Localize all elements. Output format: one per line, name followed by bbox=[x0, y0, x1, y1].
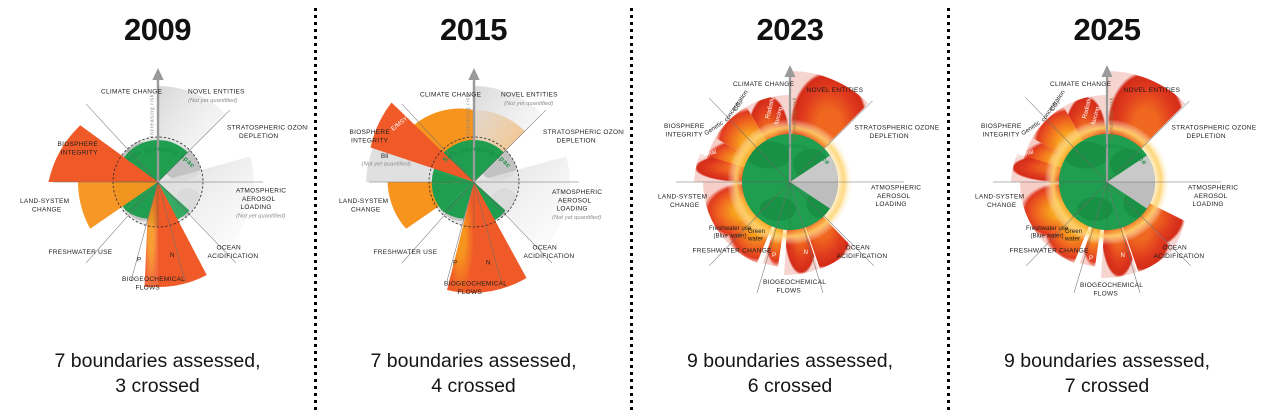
label-ocean-acidification-l1: OCEAN bbox=[1163, 244, 1188, 251]
label-aerosol-l3: LOADING bbox=[240, 204, 271, 211]
label-land-system-l1: LAND-SYSTEM bbox=[975, 193, 1024, 200]
sublabel-nitrogen: N bbox=[1121, 252, 1125, 259]
label-climate-change: CLIMATE CHANGE bbox=[101, 88, 163, 95]
caption-line-1: 9 boundaries assessed, bbox=[949, 349, 1261, 375]
panel-title: 2025 bbox=[1074, 14, 1141, 45]
sublabel-bii: BII bbox=[381, 153, 389, 160]
label-biogeochemical-l2: FLOWS bbox=[777, 287, 802, 294]
sublabel-greenwater-l2: water bbox=[1064, 235, 1080, 242]
planetary-boundaries-svg: Increasing risk Safe operating space CLI… bbox=[8, 53, 308, 308]
label-climate-change: CLIMATE CHANGE bbox=[733, 81, 795, 88]
panel-2025: 2025 bbox=[949, 0, 1261, 418]
sublabel-greenwater-l1: Green bbox=[748, 228, 766, 235]
aerosol-note: (Not yet quantified) bbox=[236, 213, 285, 219]
label-ozone-depletion-l1: STRATOSPHERIC OZONE bbox=[227, 124, 308, 131]
label-biosphere-l2: INTEGRITY bbox=[351, 137, 389, 144]
sublabel-greenwater-l1: Green bbox=[1065, 228, 1083, 235]
label-ocean-acidification-l1: OCEAN bbox=[216, 244, 241, 251]
panel-caption: 9 boundaries assessed, 6 crossed bbox=[632, 349, 948, 400]
novel-entities-note: (Not yet quantified) bbox=[188, 97, 237, 103]
label-novel-entities: NOVEL ENTITIES bbox=[501, 91, 558, 98]
panel-caption: 7 boundaries assessed, 4 crossed bbox=[316, 349, 631, 400]
sublabel-phosphorus: P bbox=[772, 252, 776, 259]
label-ozone-depletion-l2: DEPLETION bbox=[556, 137, 595, 144]
label-aerosol-l3: LOADING bbox=[1193, 201, 1224, 208]
label-ocean-acidification-l2: ACIDIFICATION bbox=[1154, 252, 1205, 259]
caption-line-2: 6 crossed bbox=[632, 374, 948, 400]
label-land-system-l1: LAND-SYSTEM bbox=[339, 198, 388, 205]
label-aerosol-l2: AEROSOL bbox=[242, 195, 275, 202]
panel-2023: 2023 bbox=[632, 0, 948, 418]
label-land-system-l2: CHANGE bbox=[670, 201, 700, 208]
risk-arrow-label: Increasing risk bbox=[1109, 97, 1115, 140]
panel-caption: 7 boundaries assessed, 3 crossed bbox=[0, 349, 315, 400]
sublabel-freshwater-l1: Freshwater use bbox=[709, 225, 752, 232]
novel-entities-note: (Not yet quantified) bbox=[504, 100, 553, 106]
sublabel-nitrogen: N bbox=[170, 252, 174, 259]
label-biosphere-l2: INTEGRITY bbox=[60, 149, 98, 156]
label-ocean-acidification-l1: OCEAN bbox=[532, 244, 557, 251]
sublabel-freshwater-l1: Freshwater use bbox=[1026, 225, 1069, 232]
label-biogeochemical-l1: BIOGEOCHEMICAL bbox=[763, 279, 826, 286]
panel-2009: 2009 bbox=[0, 0, 315, 418]
label-biosphere-l2: INTEGRITY bbox=[666, 131, 704, 138]
label-novel-entities: NOVEL ENTITIES bbox=[807, 87, 864, 94]
label-aerosol-l2: AEROSOL bbox=[558, 197, 591, 204]
label-biosphere-l1: BIOSPHERE bbox=[981, 123, 1022, 130]
label-biosphere-l1: BIOSPHERE bbox=[57, 141, 98, 148]
caption-line-2: 4 crossed bbox=[316, 374, 631, 400]
label-freshwater-change: FRESHWATER CHANGE bbox=[693, 247, 773, 254]
label-freshwater-change: FRESHWATER CHANGE bbox=[1010, 247, 1090, 254]
radial-chart-2015: Increasing risk Safe operating space CLI… bbox=[316, 51, 631, 309]
radial-chart-2023: Increasing risk Safe operating space CLI… bbox=[633, 51, 948, 309]
label-biogeochemical-l1: BIOGEOCHEMICAL bbox=[1080, 282, 1143, 289]
figure-board: 2009 bbox=[0, 0, 1261, 418]
label-ocean-acidification-l2: ACIDIFICATION bbox=[207, 252, 258, 259]
label-aerosol-l1: ATMOSPHERIC bbox=[1188, 184, 1238, 191]
label-ozone-depletion-l2: DEPLETION bbox=[1187, 132, 1226, 139]
label-aerosol-l3: LOADING bbox=[876, 201, 907, 208]
risk-arrow-label: Increasing risk bbox=[149, 94, 155, 137]
label-ocean-acidification-l2: ACIDIFICATION bbox=[523, 252, 574, 259]
label-land-system-l2: CHANGE bbox=[32, 206, 62, 213]
label-aerosol-l2: AEROSOL bbox=[877, 192, 910, 199]
sublabel-phosphorus: P bbox=[137, 256, 141, 263]
label-land-system-l1: LAND-SYSTEM bbox=[658, 193, 707, 200]
label-land-system-l2: CHANGE bbox=[987, 201, 1017, 208]
label-ozone-depletion-l2: DEPLETION bbox=[870, 132, 909, 139]
label-aerosol-l1: ATMOSPHERIC bbox=[871, 184, 921, 191]
sublabel-freshwater-l2: (Blue water) bbox=[714, 232, 747, 239]
panel-caption: 9 boundaries assessed, 7 crossed bbox=[949, 349, 1261, 400]
panel-2015: 2015 bbox=[316, 0, 631, 418]
caption-line-1: 7 boundaries assessed, bbox=[0, 349, 315, 375]
label-freshwater-use: FRESHWATER USE bbox=[48, 249, 112, 256]
label-land-system-l2: CHANGE bbox=[351, 206, 381, 213]
label-ozone-depletion-l1: STRATOSPHERIC OZONE bbox=[543, 129, 624, 136]
label-aerosol-l3: LOADING bbox=[556, 205, 587, 212]
sublabel-phosphorus: P bbox=[453, 259, 457, 266]
sublabel-nitrogen: N bbox=[486, 259, 490, 266]
label-aerosol-l2: AEROSOL bbox=[1194, 192, 1227, 199]
label-biosphere-l1: BIOSPHERE bbox=[664, 123, 705, 130]
label-biogeochemical-l2: FLOWS bbox=[135, 284, 160, 291]
caption-line-2: 7 crossed bbox=[949, 374, 1261, 400]
label-climate-change: CLIMATE CHANGE bbox=[420, 91, 482, 98]
planetary-boundaries-svg: Increasing risk Safe operating space CLI… bbox=[324, 53, 624, 308]
caption-line-2: 3 crossed bbox=[0, 374, 315, 400]
planetary-boundaries-svg: Increasing risk Safe operating space CLI… bbox=[640, 53, 940, 308]
label-ozone-depletion-l1: STRATOSPHERIC OZONE bbox=[1172, 124, 1257, 131]
aerosol-note: (Not yet quantified) bbox=[552, 214, 601, 220]
radial-chart-2009: Increasing risk Safe operating space CLI… bbox=[0, 51, 315, 309]
label-climate-change: CLIMATE CHANGE bbox=[1050, 81, 1112, 88]
radial-chart-2025: Increasing risk Safe operating space CLI… bbox=[950, 51, 1261, 309]
caption-line-1: 7 boundaries assessed, bbox=[316, 349, 631, 375]
label-ocean-acidification-l1: OCEAN bbox=[846, 244, 871, 251]
caption-line-1: 9 boundaries assessed, bbox=[632, 349, 948, 375]
label-aerosol-l1: ATMOSPHERIC bbox=[236, 187, 286, 194]
label-biogeochemical-l2: FLOWS bbox=[457, 288, 482, 295]
label-biosphere-l2: INTEGRITY bbox=[983, 131, 1021, 138]
label-ocean-acidification-l2: ACIDIFICATION bbox=[837, 252, 888, 259]
sublabel-phosphorus: P bbox=[1089, 255, 1093, 262]
label-land-system-l1: LAND-SYSTEM bbox=[20, 198, 69, 205]
label-novel-entities: NOVEL ENTITIES bbox=[1124, 87, 1181, 94]
planetary-boundaries-svg: Increasing risk Safe operating space CLI… bbox=[957, 53, 1257, 308]
label-ozone-depletion-l2: DEPLETION bbox=[239, 132, 278, 139]
panel-title: 2009 bbox=[124, 14, 191, 45]
risk-arrow-label: Increasing risk bbox=[465, 94, 471, 137]
label-biogeochemical-l1: BIOGEOCHEMICAL bbox=[444, 280, 507, 287]
label-biogeochemical-l1: BIOGEOCHEMICAL bbox=[122, 276, 185, 283]
sublabel-freshwater-l2: (Blue water) bbox=[1031, 232, 1064, 239]
sublabel-nitrogen: N bbox=[804, 249, 808, 256]
panel-title: 2023 bbox=[757, 14, 824, 45]
label-ozone-depletion-l1: STRATOSPHERIC OZONE bbox=[855, 124, 940, 131]
label-novel-entities: NOVEL ENTITIES bbox=[188, 88, 245, 95]
label-biosphere-l1: BIOSPHERE bbox=[349, 129, 390, 136]
bii-note: (Not yet quantified) bbox=[361, 161, 410, 167]
risk-arrow-label: Increasing risk bbox=[792, 97, 798, 140]
label-aerosol-l1: ATMOSPHERIC bbox=[552, 189, 602, 196]
label-freshwater-use: FRESHWATER USE bbox=[373, 249, 437, 256]
label-biogeochemical-l2: FLOWS bbox=[1094, 290, 1119, 297]
sublabel-greenwater-l2: water bbox=[747, 235, 763, 242]
panel-title: 2015 bbox=[440, 14, 507, 45]
